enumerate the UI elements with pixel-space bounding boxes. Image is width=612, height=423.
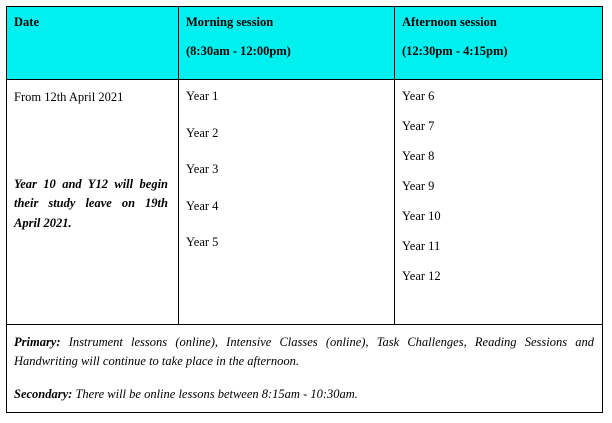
table-body-row: From 12th April 2021 Year 10 and Y12 wil… (7, 80, 603, 325)
note-secondary-label: Secondary: (14, 387, 72, 401)
table-header-row: Date Morning session (8:30am - 12:00pm) … (7, 7, 603, 80)
note-secondary: Secondary: There will be online lessons … (14, 385, 594, 404)
date-value: From 12th April 2021 (14, 90, 170, 105)
list-item: Year 12 (402, 268, 594, 298)
cell-afternoon-years: Year 6 Year 7 Year 8 Year 9 Year 10 Year… (395, 80, 603, 325)
header-morning-subtitle: (8:30am - 12:00pm) (186, 44, 386, 59)
list-item: Year 6 (402, 88, 594, 118)
header-cell-afternoon: Afternoon session (12:30pm - 4:15pm) (395, 7, 603, 80)
afternoon-year-list: Year 6 Year 7 Year 8 Year 9 Year 10 Year… (402, 88, 594, 298)
list-item: Year 2 (186, 125, 386, 162)
list-item: Year 3 (186, 161, 386, 198)
list-item: Year 1 (186, 88, 386, 125)
header-cell-morning: Morning session (8:30am - 12:00pm) (179, 7, 395, 80)
note-primary-text: Instrument lessons (online), Intensive C… (14, 335, 594, 368)
list-item: Year 5 (186, 234, 386, 271)
list-item: Year 11 (402, 238, 594, 268)
cell-morning-years: Year 1 Year 2 Year 3 Year 4 Year 5 (179, 80, 395, 325)
cell-date: From 12th April 2021 Year 10 and Y12 wil… (7, 80, 179, 325)
study-leave-note: Year 10 and Y12 will begin their study l… (14, 175, 170, 233)
header-cell-date: Date (7, 7, 179, 80)
header-morning-title: Morning session (186, 15, 386, 30)
header-afternoon-subtitle: (12:30pm - 4:15pm) (402, 44, 594, 59)
cell-notes: Primary: Instrument lessons (online), In… (7, 325, 603, 413)
header-date-title: Date (14, 15, 170, 30)
morning-year-list: Year 1 Year 2 Year 3 Year 4 Year 5 (186, 88, 386, 271)
note-primary: Primary: Instrument lessons (online), In… (14, 333, 594, 372)
note-secondary-text: There will be online lessons between 8:1… (72, 387, 358, 401)
table-notes-row: Primary: Instrument lessons (online), In… (7, 325, 603, 413)
schedule-page: Date Morning session (8:30am - 12:00pm) … (0, 0, 612, 423)
list-item: Year 10 (402, 208, 594, 238)
list-item: Year 4 (186, 198, 386, 235)
header-afternoon-title: Afternoon session (402, 15, 594, 30)
schedule-table: Date Morning session (8:30am - 12:00pm) … (6, 6, 603, 413)
list-item: Year 9 (402, 178, 594, 208)
note-primary-label: Primary: (14, 335, 61, 349)
list-item: Year 7 (402, 118, 594, 148)
list-item: Year 8 (402, 148, 594, 178)
